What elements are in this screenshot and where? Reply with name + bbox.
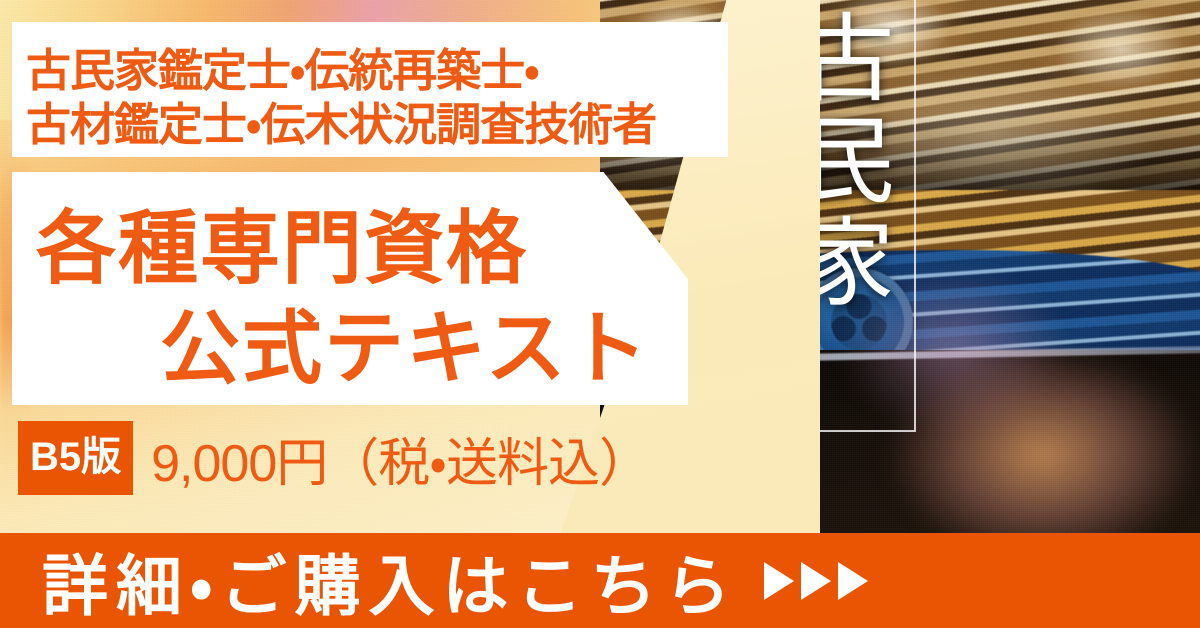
chevron-right-icon (801, 562, 831, 600)
promo-banner: 古民家 伝統構法、古民家活用のための調査と再生の 古民家鑑定士・伝統再築士・ 古… (0, 0, 1200, 628)
headline-line-2: 公式テキスト (160, 284, 650, 400)
price-amount: 9,000円（税・送料込） (151, 421, 650, 496)
price-row: B5版 9,000円（税・送料込） (18, 420, 650, 496)
chevron-right-icon (764, 562, 794, 600)
headline-line-1: 各種専門資格 (36, 184, 528, 300)
chevron-right-icon (838, 562, 868, 600)
cta-arrows (764, 562, 868, 600)
headline-panel: 各種専門資格 公式テキスト (12, 172, 688, 405)
cta-bar[interactable]: 詳細・ご購入はこちら (0, 533, 1200, 628)
format-badge: B5版 (18, 421, 133, 495)
certifications-panel: 古民家鑑定士・伝統再築士・ 古材鑑定士・伝木状況調査技術者 (12, 22, 728, 157)
cta-label: 詳細・ご購入はこちら (42, 533, 738, 628)
certifications-line-2: 古材鑑定士・伝木状況調査技術者 (26, 88, 656, 153)
